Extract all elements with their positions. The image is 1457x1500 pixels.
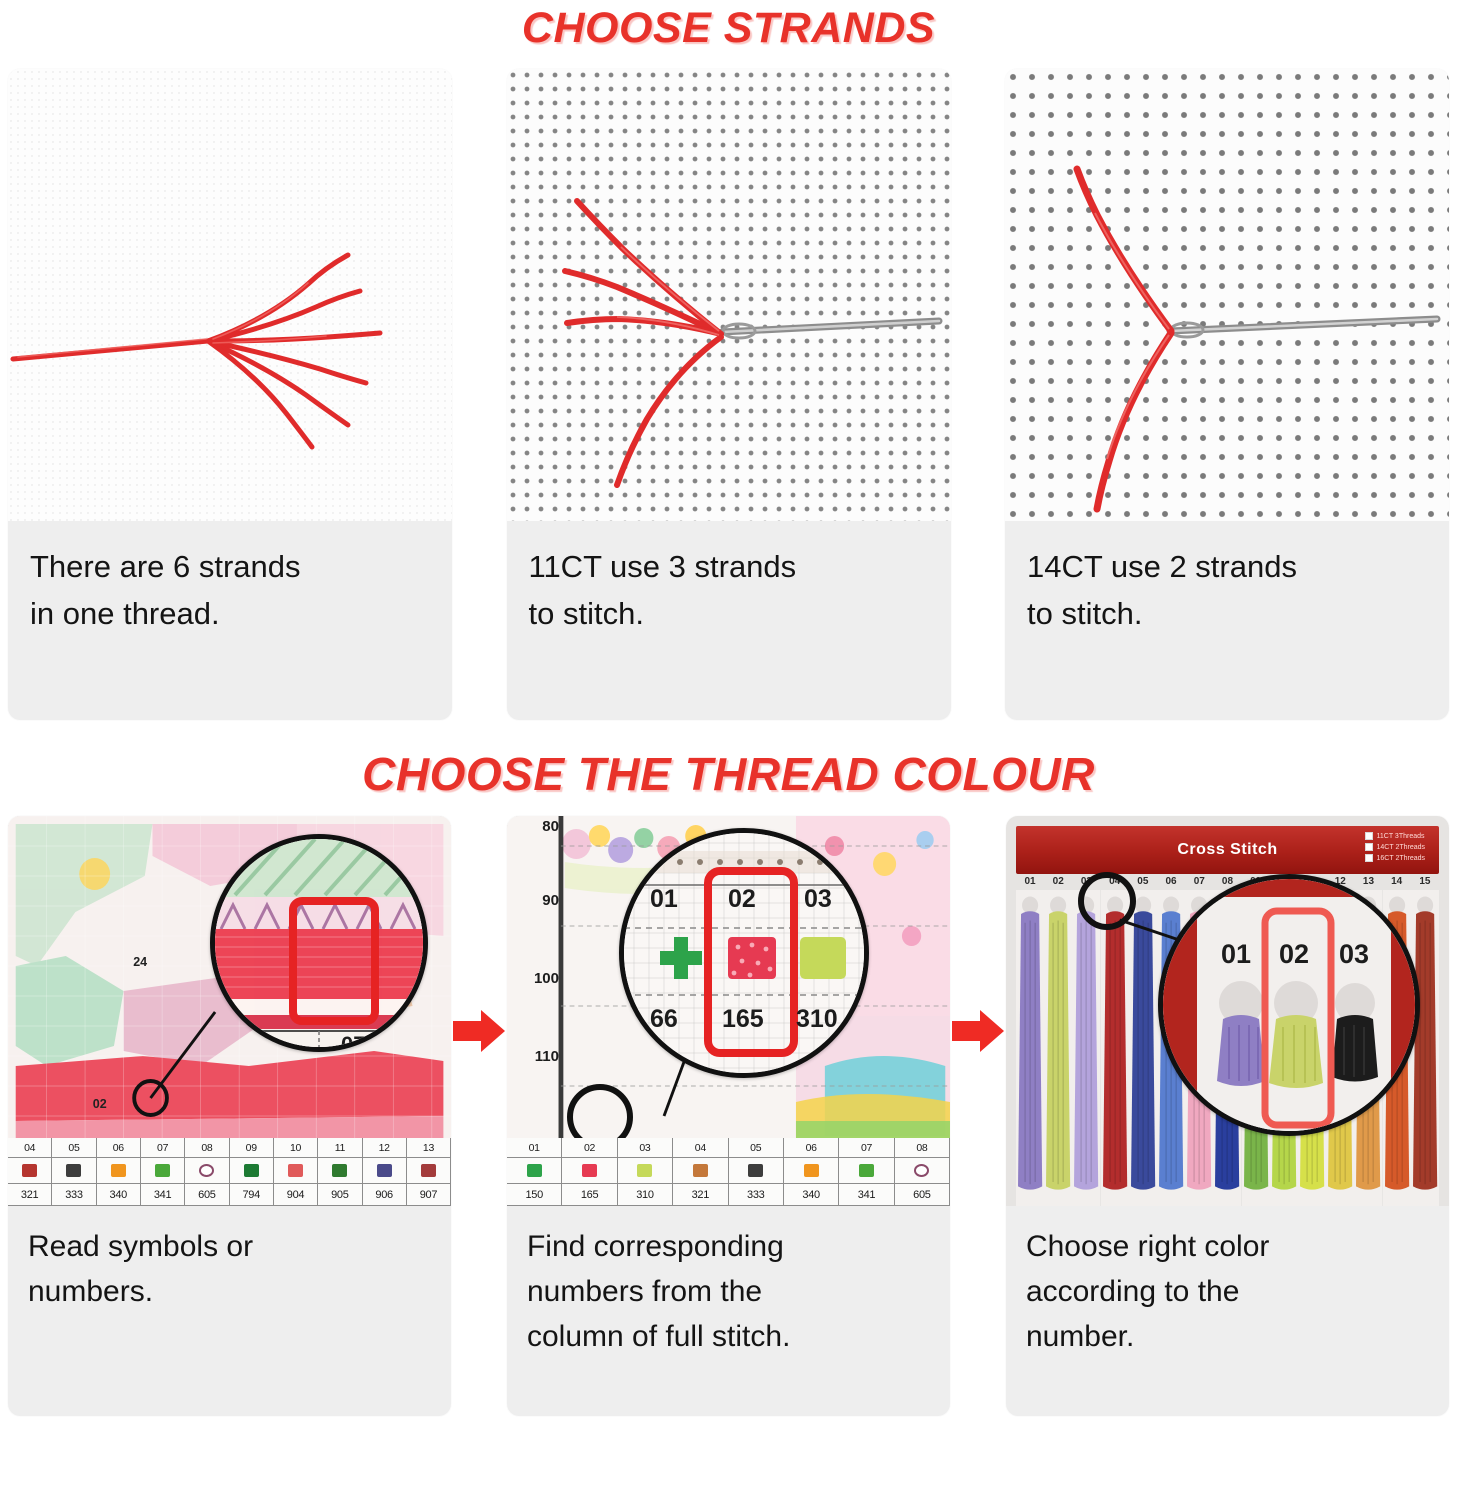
caption-14ct: 14CT use 2 strands to stitch. xyxy=(1005,521,1449,637)
caption-choose-color: Choose right color according to the numb… xyxy=(1006,1206,1449,1359)
check-label-0: 11CT 3Threads xyxy=(1377,833,1425,840)
mag-code-165: 165 xyxy=(722,1005,764,1034)
row-axis-110: 110 xyxy=(535,1048,559,1065)
key-swatch-905 xyxy=(318,1158,362,1184)
chart-mark-02: 02 xyxy=(93,1096,107,1111)
swatch-icon xyxy=(22,1164,37,1177)
key-swatch-341 xyxy=(839,1158,894,1184)
photo-14ct xyxy=(1005,69,1449,521)
checkbox-icon-2[interactable] xyxy=(1365,854,1373,862)
key-head-05: 05 xyxy=(52,1138,96,1158)
thread-skein-05[interactable] xyxy=(1129,890,1157,1206)
key-swatch-340 xyxy=(784,1158,839,1184)
thread-skein-04[interactable] xyxy=(1101,890,1129,1206)
needle-icon xyxy=(722,321,939,338)
key-code-905: 905 xyxy=(318,1184,362,1206)
swatch-icon xyxy=(527,1164,542,1177)
key-code-310: 310 xyxy=(618,1184,673,1206)
key-swatch-904 xyxy=(274,1158,318,1184)
photo-number-chart: 80 90 100 110 xyxy=(507,816,950,1206)
key-head-07: 07 xyxy=(839,1138,894,1158)
skein-icon xyxy=(1044,890,1072,1206)
key-code-321: 321 xyxy=(673,1184,728,1206)
key-head-12: 12 xyxy=(363,1138,407,1158)
swatch-icon xyxy=(288,1164,303,1177)
mag-thread-col-01: 01 xyxy=(1221,939,1251,970)
skein-icon xyxy=(1101,890,1129,1206)
key-code-794: 794 xyxy=(230,1184,274,1206)
thread-card-number-13: 13 xyxy=(1354,876,1382,887)
key-code-row: 321333340341605794904905906907 xyxy=(8,1184,451,1206)
key-swatch-333 xyxy=(729,1158,784,1184)
right-arrow-icon xyxy=(453,1008,505,1054)
row-axis-100: 100 xyxy=(534,970,559,987)
key-code-333: 333 xyxy=(52,1184,96,1206)
skein-icon xyxy=(1072,890,1100,1206)
infographic-page: CHOOSE STRANDS xyxy=(0,0,1457,1500)
mag-code-310: 310 xyxy=(796,1005,838,1034)
thread-skein-15[interactable] xyxy=(1411,890,1439,1206)
key-code-605: 605 xyxy=(185,1184,229,1206)
thread-card-check-list: 11CT 3Threads 14CT 2Threads 16CT 2Thread… xyxy=(1365,832,1426,865)
key-swatch-340 xyxy=(97,1158,141,1184)
swatch-icon xyxy=(155,1164,170,1177)
mag-swatch-03 xyxy=(800,937,846,979)
magnifier-circle-numbers: 01 02 03 66 165 310 xyxy=(619,828,869,1078)
swatch-icon xyxy=(804,1164,819,1177)
thread-colour-row: 24 02 xyxy=(0,816,1457,1416)
key-code-904: 904 xyxy=(274,1184,318,1206)
key-symbol-row xyxy=(8,1158,451,1184)
mag-col-01: 01 xyxy=(650,885,678,914)
magnified-skein-02 xyxy=(1269,1015,1323,1088)
panel-read-symbols: 24 02 xyxy=(8,816,451,1416)
swatch-icon xyxy=(582,1164,597,1177)
thread-card-number-02: 02 xyxy=(1044,876,1072,887)
key-code-150: 150 xyxy=(507,1184,562,1206)
key-head-08: 08 xyxy=(185,1138,229,1158)
swatch-icon xyxy=(332,1164,347,1177)
check-item-1: 14CT 2Threads xyxy=(1365,843,1426,851)
key-head-13: 13 xyxy=(407,1138,451,1158)
swatch-icon xyxy=(421,1164,436,1177)
skein-icon xyxy=(1129,890,1157,1206)
key-swatch-794 xyxy=(230,1158,274,1184)
arrow-1-wrap xyxy=(451,646,507,1416)
swatch-icon xyxy=(914,1164,929,1177)
swatch-icon xyxy=(244,1164,259,1177)
panel-11ct-three-strands: 11CT use 3 strands to stitch. xyxy=(507,69,951,720)
key-swatch-310 xyxy=(618,1158,673,1184)
mag-thread-col-03: 03 xyxy=(1339,939,1369,970)
thread-card-number-06: 06 xyxy=(1157,876,1185,887)
section-title-choose-thread-colour: CHOOSE THE THREAD COLOUR xyxy=(0,744,1457,798)
panel-choose-color: Cross Stitch 11CT 3Threads 14CT 2Threads xyxy=(1006,816,1449,1416)
skein-icon xyxy=(1016,890,1044,1206)
panel-six-strands: There are 6 strands in one thread. xyxy=(8,69,452,720)
thread-card-number-07: 07 xyxy=(1185,876,1213,887)
panel-find-numbers: 80 90 100 110 xyxy=(507,816,950,1416)
thread-skein-02[interactable] xyxy=(1044,890,1072,1206)
swatch-icon xyxy=(859,1164,874,1177)
row-axis-labels: 80 90 100 110 xyxy=(513,816,561,1146)
checkbox-icon-0[interactable] xyxy=(1365,832,1373,840)
thread-skein-01[interactable] xyxy=(1016,890,1044,1206)
key-head-01: 01 xyxy=(507,1138,562,1158)
thread-card-number-15: 15 xyxy=(1411,876,1439,887)
key-head-05: 05 xyxy=(729,1138,784,1158)
skein-icon xyxy=(1411,890,1439,1206)
magnifier-content-threads xyxy=(1163,879,1420,1136)
key-swatch-150 xyxy=(507,1158,562,1184)
arrow-2-wrap xyxy=(950,646,1006,1416)
thread-needle-11ct-illustration xyxy=(507,69,951,521)
magnified-skein-03 xyxy=(1332,1015,1378,1082)
check-label-1: 14CT 2Threads xyxy=(1377,844,1426,851)
checkbox-icon-1[interactable] xyxy=(1365,843,1373,851)
color-key-table-numbers: 0102030405060708 15016531032133334034160… xyxy=(507,1138,950,1206)
color-key-table-symbols: 04050607080910111213 3213333403416057949… xyxy=(8,1138,451,1206)
swatch-icon xyxy=(637,1164,652,1177)
thread-needle-14ct-illustration xyxy=(1005,69,1449,521)
key-swatch-906 xyxy=(363,1158,407,1184)
key-code-row-2: 150165310321333340341605 xyxy=(507,1184,950,1206)
key-code-341: 341 xyxy=(141,1184,185,1206)
photo-11ct xyxy=(507,69,951,521)
check-label-2: 16CT 2Threads xyxy=(1377,855,1426,862)
key-head-10: 10 xyxy=(274,1138,318,1158)
key-code-605: 605 xyxy=(895,1184,950,1206)
thread-card-number-01: 01 xyxy=(1016,876,1044,887)
key-head-06: 06 xyxy=(784,1138,839,1158)
right-arrow-icon-2 xyxy=(952,1008,1004,1054)
key-head-04: 04 xyxy=(8,1138,52,1158)
key-head-07: 07 xyxy=(141,1138,185,1158)
panel-14ct-two-strands: 14CT use 2 strands to stitch. xyxy=(1005,69,1449,720)
caption-read-symbols: Read symbols or numbers. xyxy=(8,1206,451,1314)
row-axis-80: 80 xyxy=(542,818,559,835)
key-symbol-row-2 xyxy=(507,1158,950,1184)
check-item-0: 11CT 3Threads xyxy=(1365,832,1426,840)
key-swatch-341 xyxy=(141,1158,185,1184)
caption-11ct: 11CT use 3 strands to stitch. xyxy=(507,521,951,637)
row-axis-90: 90 xyxy=(542,892,559,909)
key-code-341: 341 xyxy=(839,1184,894,1206)
key-head-04: 04 xyxy=(673,1138,728,1158)
strands-row: There are 6 strands in one thread. xyxy=(0,69,1457,720)
photo-pattern-chart: 24 02 xyxy=(8,816,451,1206)
key-head-03: 03 xyxy=(618,1138,673,1158)
swatch-icon xyxy=(377,1164,392,1177)
thread-six-strands-illustration xyxy=(8,69,452,521)
needle-icon xyxy=(1170,319,1437,337)
key-code-340: 340 xyxy=(784,1184,839,1206)
key-head-11: 11 xyxy=(318,1138,362,1158)
key-code-340: 340 xyxy=(97,1184,141,1206)
thread-card-title: Cross Stitch xyxy=(1177,841,1277,859)
thread-card-header: Cross Stitch 11CT 3Threads 14CT 2Threads xyxy=(1016,826,1439,874)
key-code-165: 165 xyxy=(562,1184,617,1206)
swatch-icon xyxy=(111,1164,126,1177)
key-swatch-321 xyxy=(8,1158,52,1184)
caption-six-strands: There are 6 strands in one thread. xyxy=(8,521,452,637)
mag-col-03: 03 xyxy=(804,885,832,914)
key-code-906: 906 xyxy=(363,1184,407,1206)
mag-thread-col-02: 02 xyxy=(1279,939,1309,970)
thread-card-number-row: 010203040506070809101112131415 xyxy=(1016,876,1439,887)
key-head-06: 06 xyxy=(97,1138,141,1158)
key-swatch-907 xyxy=(407,1158,451,1184)
key-code-333: 333 xyxy=(729,1184,784,1206)
key-swatch-321 xyxy=(673,1158,728,1184)
swatch-icon xyxy=(693,1164,708,1177)
mag-code-66: 66 xyxy=(650,1005,678,1034)
section-title-choose-strands: CHOOSE STRANDS xyxy=(0,0,1457,51)
key-swatch-333 xyxy=(52,1158,96,1184)
key-head-row-2: 0102030405060708 xyxy=(507,1138,950,1158)
chart-mark-24: 24 xyxy=(133,954,148,969)
thread-card-number-05: 05 xyxy=(1129,876,1157,887)
key-head-08: 08 xyxy=(895,1138,950,1158)
photo-six-strands xyxy=(8,69,452,521)
swatch-icon xyxy=(748,1164,763,1177)
key-code-907: 907 xyxy=(407,1184,451,1206)
skein-focus-ring xyxy=(1078,872,1136,930)
key-head-row: 04050607080910111213 xyxy=(8,1138,451,1158)
thread-card-number-14: 14 xyxy=(1383,876,1411,887)
key-code-321: 321 xyxy=(8,1184,52,1206)
key-swatch-605 xyxy=(185,1158,229,1184)
magnified-skein-01 xyxy=(1217,1015,1265,1086)
magnifier-circle-symbols: 07 6 xyxy=(210,834,428,1052)
photo-thread-card: Cross Stitch 11CT 3Threads 14CT 2Threads xyxy=(1006,816,1449,1206)
key-swatch-605 xyxy=(895,1158,950,1184)
key-swatch-165 xyxy=(562,1158,617,1184)
swatch-icon xyxy=(66,1164,81,1177)
check-item-2: 16CT 2Threads xyxy=(1365,854,1426,862)
magnifier-circle-threads: 01 02 03 xyxy=(1158,874,1420,1136)
key-head-09: 09 xyxy=(230,1138,274,1158)
key-head-02: 02 xyxy=(562,1138,617,1158)
mag-col-02: 02 xyxy=(728,885,756,914)
swatch-icon xyxy=(199,1164,214,1177)
thread-skein-03[interactable] xyxy=(1072,890,1100,1206)
caption-find-numbers: Find corresponding numbers from the colu… xyxy=(507,1206,950,1359)
